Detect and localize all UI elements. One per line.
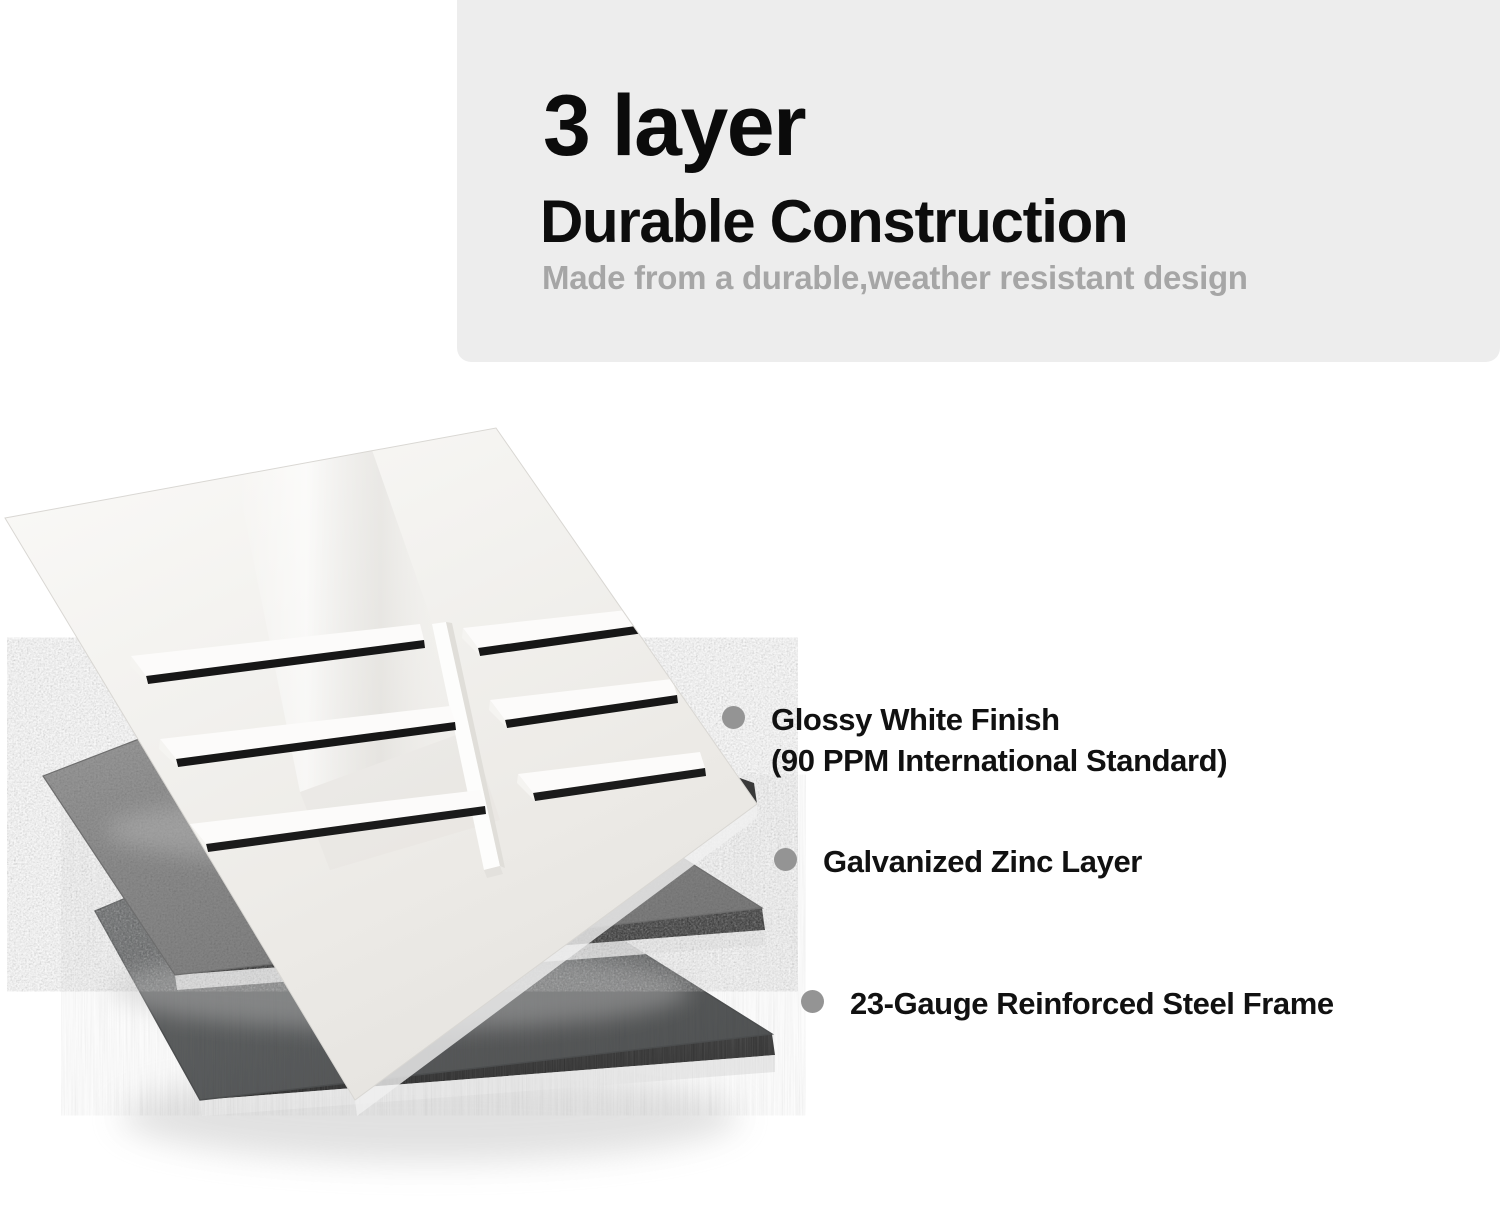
page-subtitle: Durable Construction bbox=[540, 192, 1127, 252]
feature-bullet-label: Galvanized Zinc Layer bbox=[823, 841, 1142, 882]
bullet-dot-icon bbox=[801, 990, 824, 1013]
feature-bullet-label: 23-Gauge Reinforced Steel Frame bbox=[850, 983, 1334, 1024]
feature-bullet-label: Glossy White Finish (90 PPM Internationa… bbox=[771, 699, 1227, 781]
page-title: 3 layer bbox=[543, 83, 805, 169]
feature-bullet-glossy-white-finish: Glossy White Finish (90 PPM Internationa… bbox=[722, 699, 1227, 781]
header-panel bbox=[457, 0, 1500, 362]
product-illustration bbox=[0, 400, 820, 1216]
feature-bullet-steel-frame: 23-Gauge Reinforced Steel Frame bbox=[801, 983, 1334, 1024]
bullet-dot-icon bbox=[722, 706, 745, 729]
page-caption: Made from a durable,weather resistant de… bbox=[542, 261, 1248, 294]
bullet-dot-icon bbox=[774, 848, 797, 871]
feature-bullet-galvanized-zinc-layer: Galvanized Zinc Layer bbox=[774, 841, 1142, 882]
